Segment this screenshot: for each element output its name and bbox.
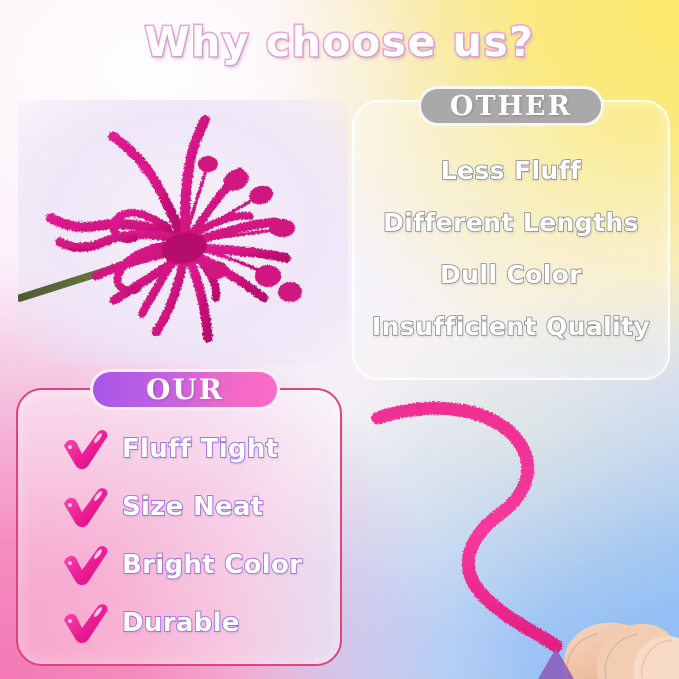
list-item: Durable [16, 602, 342, 644]
page-title-band: Why choose us? [0, 14, 679, 70]
other-list-item: Dull Color [440, 260, 582, 289]
list-item: Fluff Tight [16, 428, 342, 470]
infographic-canvas: Why choose us? OTHER Less Fluff Differen… [0, 0, 679, 679]
other-list-item: Less Fluff [441, 156, 582, 185]
our-list-item-label: Fluff Tight [122, 434, 278, 464]
check-icon [60, 544, 110, 586]
pipe-cleaner-wave-photo [360, 380, 679, 679]
other-list-item: Insufficient Quality [372, 312, 650, 341]
check-icon [60, 486, 110, 528]
our-feature-list: Fluff Tight Size Neat Bright Color [16, 414, 342, 664]
our-list-item-label: Bright Color [122, 550, 302, 580]
other-feature-list: Less Fluff Different Lengths Dull Color … [352, 138, 670, 363]
other-list-item: Different Lengths [383, 208, 639, 237]
other-badge: OTHER [418, 86, 604, 126]
page-title: Why choose us? [144, 18, 534, 66]
list-item: Size Neat [16, 486, 342, 528]
our-list-item-label: Size Neat [122, 492, 264, 522]
our-badge: OUR [90, 369, 280, 410]
pipe-cleaner-flower-photo [18, 100, 348, 365]
check-icon [60, 602, 110, 644]
our-list-item-label: Durable [122, 608, 240, 638]
check-icon [60, 428, 110, 470]
list-item: Bright Color [16, 544, 342, 586]
